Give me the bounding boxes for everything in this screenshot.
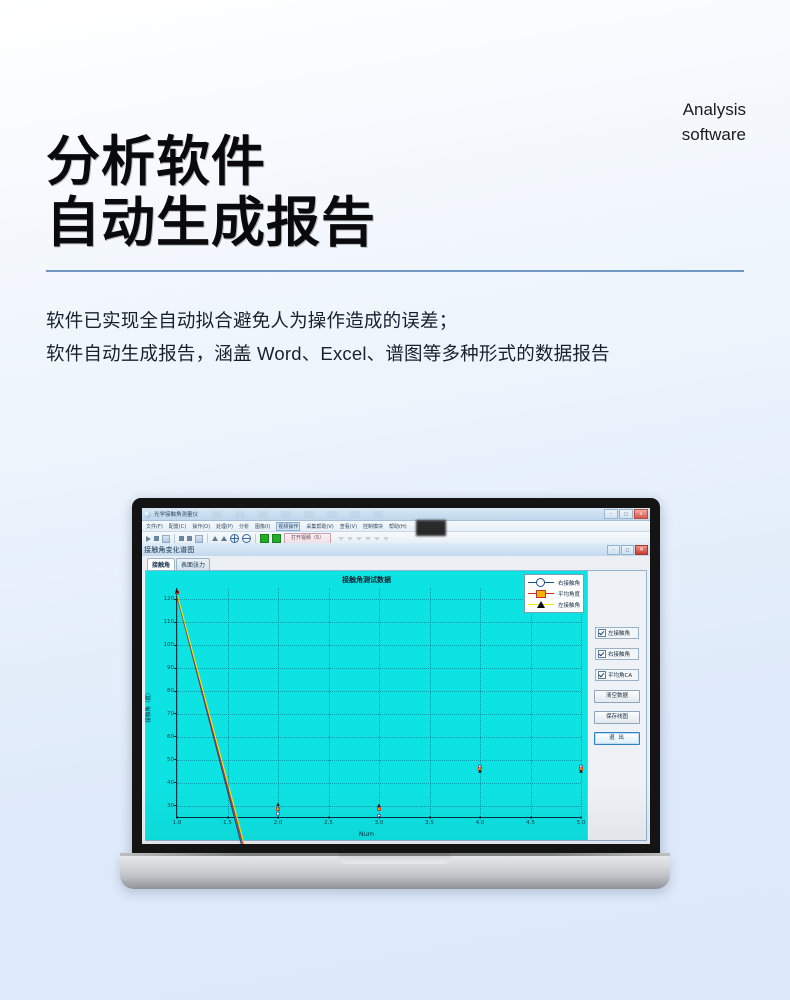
menu-item-operate[interactable]: 操作(O) xyxy=(192,523,210,530)
chart-gridline-vertical xyxy=(581,588,582,817)
chart-x-tick-label: 1.5 xyxy=(223,820,232,826)
horizontal-divider xyxy=(46,270,744,272)
chart-x-tick-label: 4.0 xyxy=(476,820,485,826)
body-line-1: 软件已实现全自动拟合避免人为操作造成的误差； xyxy=(46,305,756,338)
legend-label-right-angle: 右接触角 xyxy=(556,579,580,587)
legend-entry-average-angle: 平均角度 xyxy=(528,588,580,599)
eyebrow-line-1: Analysis xyxy=(566,98,746,123)
chart-y-tick-label: 90 xyxy=(167,665,174,671)
record-icon[interactable] xyxy=(179,536,184,541)
toolbar-separator-3 xyxy=(255,534,256,543)
chart-gridline-horizontal xyxy=(177,668,581,669)
chart-x-tick-label: 2.0 xyxy=(274,820,283,826)
chart-gridline-horizontal xyxy=(177,622,581,623)
checkbox-icon[interactable] xyxy=(598,629,606,637)
triangle-marker-icon xyxy=(537,601,545,608)
chart-x-tick-label: 2.5 xyxy=(324,820,333,826)
chart-x-tick-label: 3.5 xyxy=(425,820,434,826)
window-title: 光学接触角测量仪 xyxy=(154,510,198,518)
pause-icon[interactable] xyxy=(187,536,192,541)
chart-x-tick-label: 5.0 xyxy=(577,820,586,826)
menu-item-analyze[interactable]: 分析 xyxy=(239,523,249,530)
chart-y-axis-label: 接触角（度） xyxy=(144,689,152,722)
body-line-2: 软件自动生成报告，涵盖 Word、Excel、谱图等多种形式的数据报告 xyxy=(46,338,756,371)
crosshair-plus-icon[interactable] xyxy=(230,534,239,543)
clear-data-button[interactable]: 清空数据 xyxy=(594,690,640,703)
legend-label-average-angle: 平均角度 xyxy=(556,590,580,598)
chart-x-tick-label: 1.0 xyxy=(173,820,182,826)
chart-gridline-horizontal xyxy=(177,691,581,692)
checkbox-icon[interactable] xyxy=(598,650,606,658)
application-window: 光学接触角测量仪 – □ ✕ 文件(F) 配置(C) 操作(O) 处理(P) xyxy=(142,508,650,844)
checkbox-label-average-ca: 平均角CA xyxy=(608,671,632,679)
toolbar-separator xyxy=(174,534,175,543)
menu-item-config[interactable]: 配置(C) xyxy=(169,523,186,530)
chart-plot-region: 1.01.52.02.53.03.54.04.55.03040506070809… xyxy=(176,588,581,818)
tab-bar[interactable]: 接触角 表面张力 xyxy=(145,559,647,570)
chart-gridline-horizontal xyxy=(177,599,581,600)
toolbar-disabled-icons xyxy=(338,537,389,541)
window-controls[interactable]: – □ ✕ xyxy=(604,509,648,519)
chart-area: 接触角测试数据 接触角（度） Num 1.01.52.02.53.03.54.0… xyxy=(146,571,587,840)
child-window: 接触角变化谱图 – □ ✕ 接触角 表面张力 xyxy=(142,543,650,844)
chart-x-tick-label: 3.0 xyxy=(375,820,384,826)
tab-surface-tension[interactable]: 表面张力 xyxy=(176,558,210,570)
app-logo-icon xyxy=(144,511,151,518)
green-square-icon[interactable] xyxy=(260,534,269,543)
chart-y-tick-label: 100 xyxy=(164,642,175,648)
chart-gridline-horizontal xyxy=(177,760,581,761)
save-chart-button[interactable]: 保存线图 xyxy=(594,711,640,724)
child-maximize-button[interactable]: □ xyxy=(621,545,634,555)
chart-y-tick-label: 40 xyxy=(167,780,174,786)
chart-gridline-horizontal xyxy=(177,783,581,784)
child-window-title: 接触角变化谱图 xyxy=(144,545,194,555)
menu-item-help[interactable]: 帮助(H) xyxy=(389,523,407,530)
crosshair-minus-icon[interactable] xyxy=(242,534,251,543)
chart-y-tick-label: 80 xyxy=(167,688,174,694)
child-window-body: 接触角 表面张力 接触角测试数据 接触角（度） Num xyxy=(142,556,650,844)
grid-icon[interactable] xyxy=(195,535,203,543)
menu-bar[interactable]: 文件(F) 配置(C) 操作(O) 处理(P) 分析 图像(I) 视频操作 采集… xyxy=(142,521,650,532)
chart-y-tick-label: 120 xyxy=(164,596,175,602)
menu-item-video[interactable]: 视频操作 xyxy=(276,522,300,531)
eyebrow-line-2: software xyxy=(566,123,746,148)
exit-button[interactable]: 退 出 xyxy=(594,732,640,745)
titlebar-ghost-icons xyxy=(198,511,604,518)
legend-entry-left-angle: 左接触角 xyxy=(528,599,580,610)
headline-line-2: 自动生成报告 xyxy=(46,192,376,252)
toolbar-separator-2 xyxy=(207,534,208,543)
chart-y-tick-label: 70 xyxy=(167,711,174,717)
hero-section: 分析软件 自动生成报告 Analysis software 软件已实现全自动拟合… xyxy=(0,0,790,420)
chart-gridline-horizontal xyxy=(177,737,581,738)
child-window-controls[interactable]: – □ ✕ xyxy=(607,545,648,555)
menu-item-capture-help[interactable]: 采集帮助(V) xyxy=(306,523,333,530)
headline-line-1: 分析软件 xyxy=(46,129,266,193)
close-button[interactable]: ✕ xyxy=(634,509,648,519)
stop-icon[interactable] xyxy=(154,536,159,541)
laptop-base xyxy=(120,853,670,889)
camera-icon[interactable] xyxy=(162,535,170,543)
checkbox-left-contact-angle[interactable]: 左接触角 xyxy=(595,627,639,639)
menu-item-process[interactable]: 处理(P) xyxy=(216,523,233,530)
triangle-up-icon[interactable] xyxy=(212,536,218,541)
circle-marker-icon xyxy=(536,578,545,587)
child-close-button[interactable]: ✕ xyxy=(635,545,648,555)
chart-panel: 接触角测试数据 接触角（度） Num 1.01.52.02.53.03.54.0… xyxy=(145,570,647,841)
checkbox-icon[interactable] xyxy=(598,671,606,679)
checkbox-label-left-contact-angle: 左接触角 xyxy=(608,629,630,637)
chart-y-tick-label: 30 xyxy=(167,803,174,809)
checkbox-right-contact-angle[interactable]: 右接触角 xyxy=(595,648,639,660)
body-copy: 软件已实现全自动拟合避免人为操作造成的误差； 软件自动生成报告，涵盖 Word、… xyxy=(46,305,756,371)
legend-entry-right-angle: 右接触角 xyxy=(528,577,580,588)
chart-gridline-horizontal xyxy=(177,714,581,715)
chart-gridline-horizontal xyxy=(177,806,581,807)
checkbox-average-ca[interactable]: 平均角CA xyxy=(595,669,639,681)
legend-label-left-angle: 左接触角 xyxy=(556,601,580,609)
chart-x-tick-label: 4.5 xyxy=(526,820,535,826)
laptop-screen: 光学接触角测量仪 – □ ✕ 文件(F) 配置(C) 操作(O) 处理(P) xyxy=(142,508,650,844)
menu-item-control-module[interactable]: 控制模块 xyxy=(363,523,383,530)
chart-y-tick-label: 110 xyxy=(164,619,175,625)
triangle-small-icon[interactable] xyxy=(221,536,227,541)
tab-contact-angle[interactable]: 接触角 xyxy=(147,558,175,570)
checkbox-label-right-contact-angle: 右接触角 xyxy=(608,650,630,658)
play-icon[interactable] xyxy=(146,536,151,542)
chart-title: 接触角测试数据 xyxy=(146,575,587,585)
green-capture-icon[interactable] xyxy=(272,534,281,543)
window-titlebar: 光学接触角测量仪 – □ ✕ xyxy=(142,508,650,521)
laptop-mockup: 光学接触角测量仪 – □ ✕ 文件(F) 配置(C) 操作(O) 处理(P) xyxy=(120,498,670,918)
chart-y-tick-label: 50 xyxy=(167,757,174,763)
child-minimize-button[interactable]: – xyxy=(607,545,620,555)
minimize-button[interactable]: – xyxy=(604,509,618,519)
chart-legend: 右接触角 平均角度 xyxy=(524,574,584,613)
menu-item-view[interactable]: 查看(V) xyxy=(340,523,357,530)
laptop-lid: 光学接触角测量仪 – □ ✕ 文件(F) 配置(C) 操作(O) 处理(P) xyxy=(132,498,660,858)
square-marker-icon xyxy=(536,590,546,598)
control-panel: 左接触角 右接触角 平均角CA 清空数据 xyxy=(587,571,646,840)
chart-gridline-horizontal xyxy=(177,645,581,646)
maximize-button[interactable]: □ xyxy=(619,509,633,519)
child-window-titlebar: 接触角变化谱图 – □ ✕ xyxy=(142,543,650,557)
page-title: 分析软件 自动生成报告 xyxy=(46,131,376,252)
menu-item-image[interactable]: 图像(I) xyxy=(255,523,270,530)
chart-y-tick-label: 60 xyxy=(167,734,174,740)
eyebrow-text: Analysis software xyxy=(566,98,746,147)
screen-glare-blob xyxy=(416,520,446,536)
menu-item-file[interactable]: 文件(F) xyxy=(146,523,163,530)
